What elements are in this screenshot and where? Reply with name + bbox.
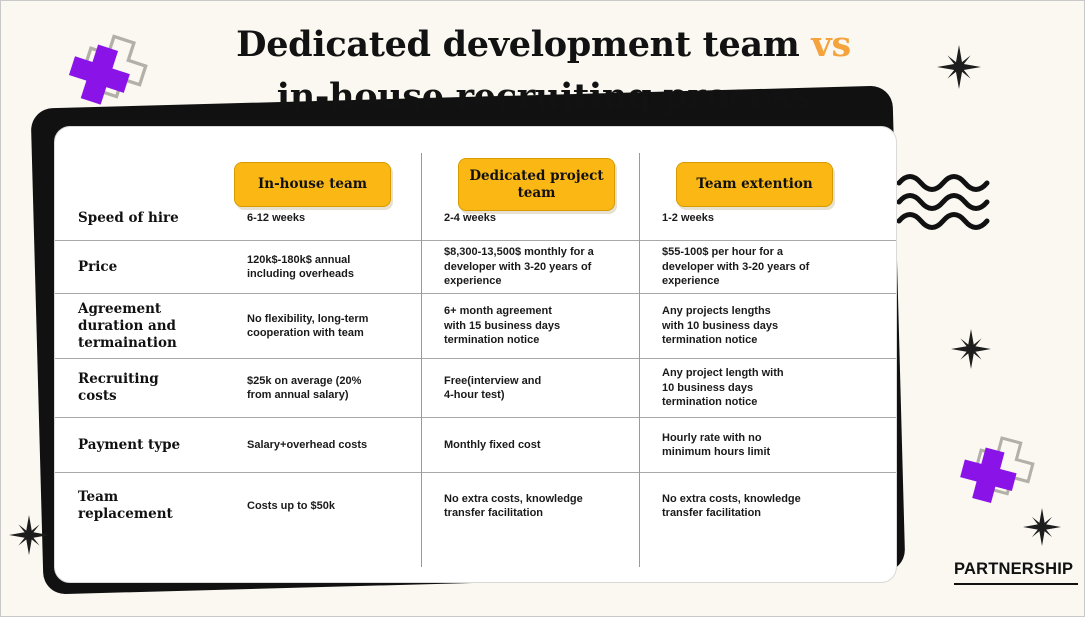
title-line-1: Dedicated development team vs xyxy=(1,19,1085,71)
table-row: Agreement duration and termaination No f… xyxy=(55,294,896,359)
sparkle-icon xyxy=(1023,508,1061,546)
cell-in-house: No flexibility, long-term cooperation wi… xyxy=(224,312,421,341)
cell-in-house: Costs up to $50k xyxy=(224,499,421,514)
wavy-lines-icon xyxy=(897,169,997,231)
cell-extension: No extra costs, knowledge transfer facil… xyxy=(639,492,896,521)
cell-extension: $55-100$ per hour for a developer with 3… xyxy=(639,245,896,289)
cell-dedicated: 6+ month agreement with 15 business days… xyxy=(421,304,639,348)
cell-in-house: 120k$-180k$ annual including overheads xyxy=(224,253,421,282)
title-vs-accent: vs xyxy=(811,24,850,65)
cell-dedicated: 2-4 weeks xyxy=(421,211,639,226)
row-label: Agreement duration and termaination xyxy=(55,301,224,352)
row-label: Payment type xyxy=(55,437,224,454)
column-divider-2 xyxy=(639,153,640,567)
cell-extension: Hourly rate with no minimum hours limit xyxy=(639,431,896,460)
row-label: Recruiting costs xyxy=(55,371,224,405)
cell-in-house: $25k on average (20% from annual salary) xyxy=(224,374,421,403)
partnership-footer: PARTNERSHIP xyxy=(954,559,1082,585)
cell-dedicated: Free(interview and 4-hour test) xyxy=(421,374,639,403)
row-label: Team replacement xyxy=(55,489,224,523)
cell-extension: Any project length with 10 business days… xyxy=(639,366,896,410)
comparison-table: Speed of hire 6-12 weeks 2-4 weeks 1-2 w… xyxy=(55,197,896,539)
cell-dedicated: No extra costs, knowledge transfer facil… xyxy=(421,492,639,521)
row-label: Speed of hire xyxy=(55,210,224,227)
title-main-text: Dedicated development team xyxy=(236,24,811,65)
cell-in-house: Salary+overhead costs xyxy=(224,438,421,453)
sparkle-icon xyxy=(937,45,981,89)
column-divider-1 xyxy=(421,153,422,567)
column-header-row: In-house team Dedicated project team Tea… xyxy=(55,127,896,197)
cell-dedicated: $8,300-13,500$ monthly for a developer w… xyxy=(421,245,639,289)
cell-in-house: 6-12 weeks xyxy=(224,211,421,226)
purple-cross-icon xyxy=(67,28,151,112)
slide-canvas: Dedicated development team vs in-house r… xyxy=(0,0,1085,617)
row-label: Price xyxy=(55,259,224,276)
sparkle-icon xyxy=(951,329,991,369)
cell-extension: Any projects lengths with 10 business da… xyxy=(639,304,896,348)
partnership-label: PARTNERSHIP xyxy=(954,559,1082,579)
column-header-extension-label: Team extention xyxy=(696,176,812,193)
table-row: Speed of hire 6-12 weeks 2-4 weeks 1-2 w… xyxy=(55,197,896,241)
cell-dedicated: Monthly fixed cost xyxy=(421,438,639,453)
table-row: Payment type Salary+overhead costs Month… xyxy=(55,418,896,473)
cell-extension: 1-2 weeks xyxy=(639,211,896,226)
partnership-underline xyxy=(954,583,1078,585)
table-row: Team replacement Costs up to $50k No ext… xyxy=(55,473,896,539)
table-row: Recruiting costs $25k on average (20% fr… xyxy=(55,359,896,418)
comparison-card: In-house team Dedicated project team Tea… xyxy=(54,126,897,583)
column-header-in-house-label: In-house team xyxy=(258,176,367,193)
table-row: Price 120k$-180k$ annual including overh… xyxy=(55,241,896,294)
purple-cross-icon xyxy=(959,431,1037,509)
